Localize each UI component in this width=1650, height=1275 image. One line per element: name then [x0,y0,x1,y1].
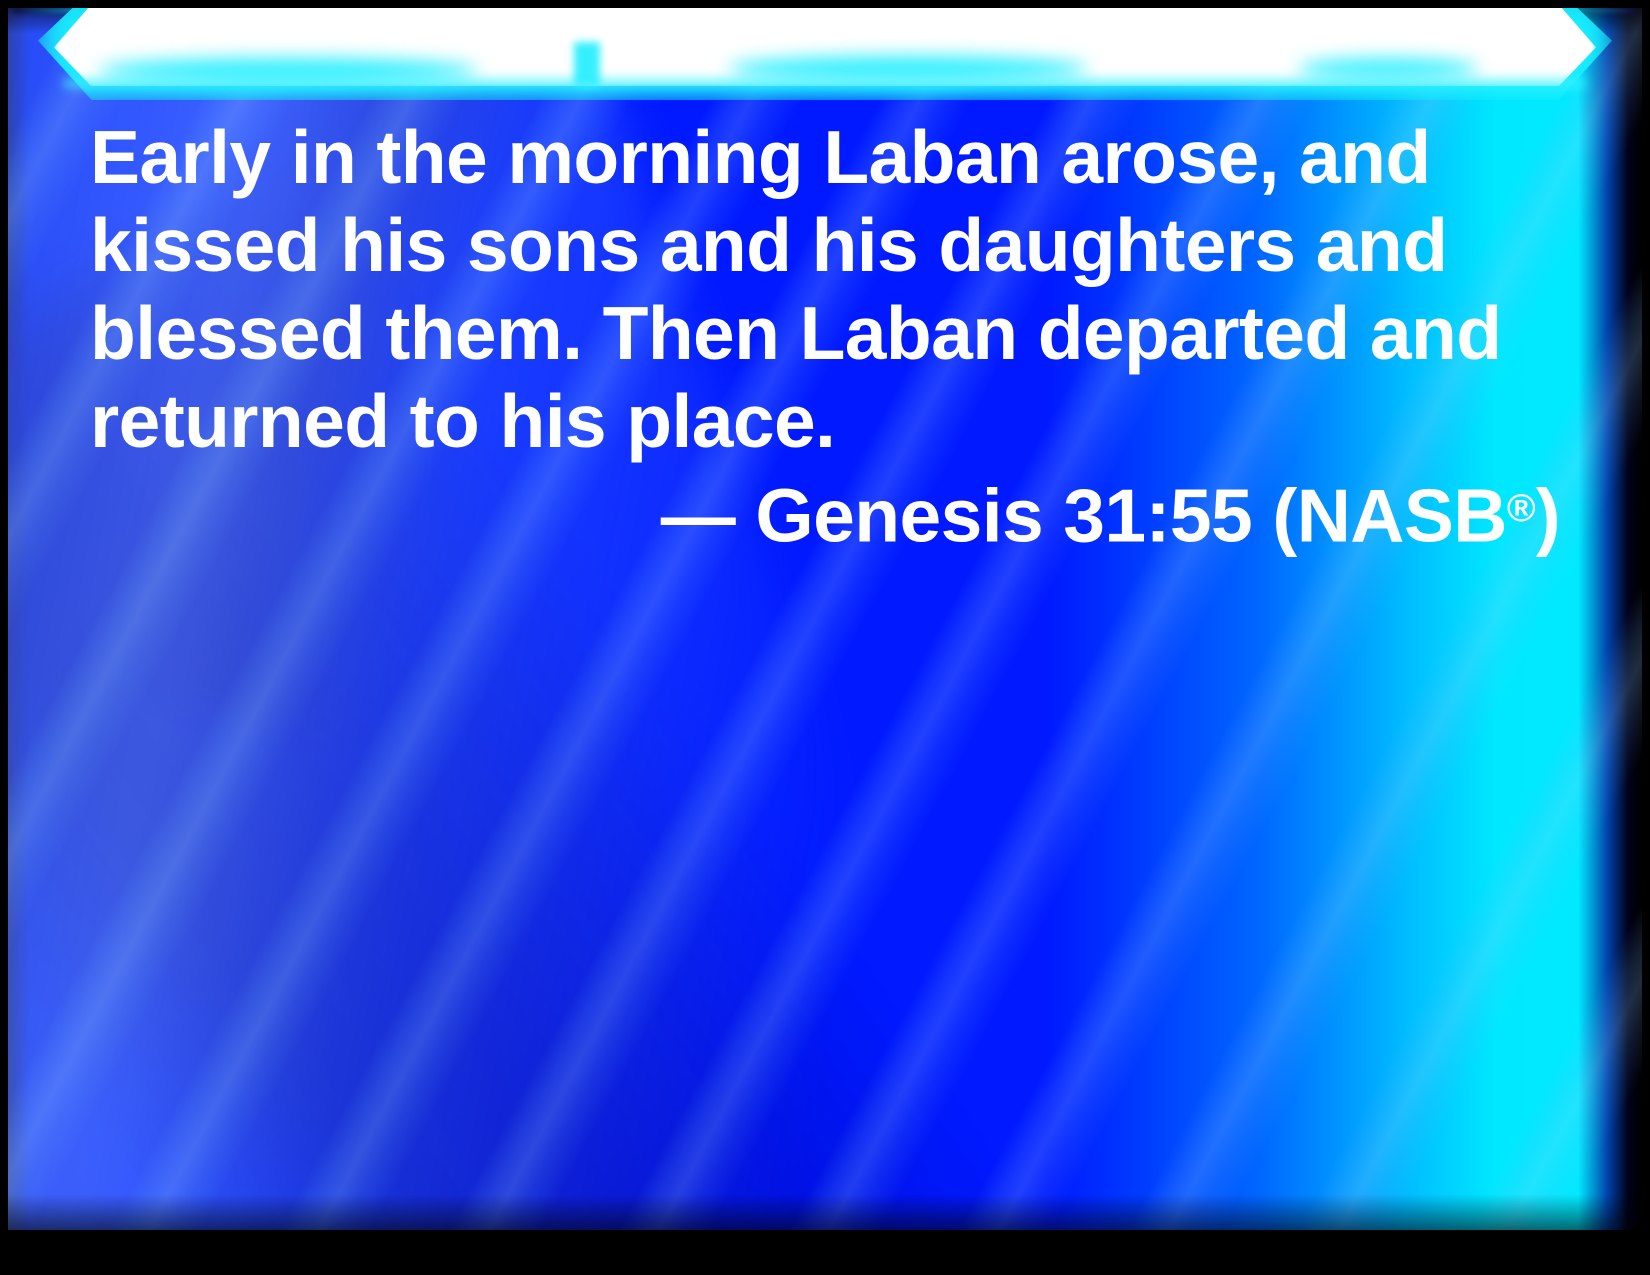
verse-slide: Early in the morning Laban arose, and ki… [0,0,1650,1275]
background-vignette [8,8,1642,1230]
background-panel [8,8,1642,1230]
